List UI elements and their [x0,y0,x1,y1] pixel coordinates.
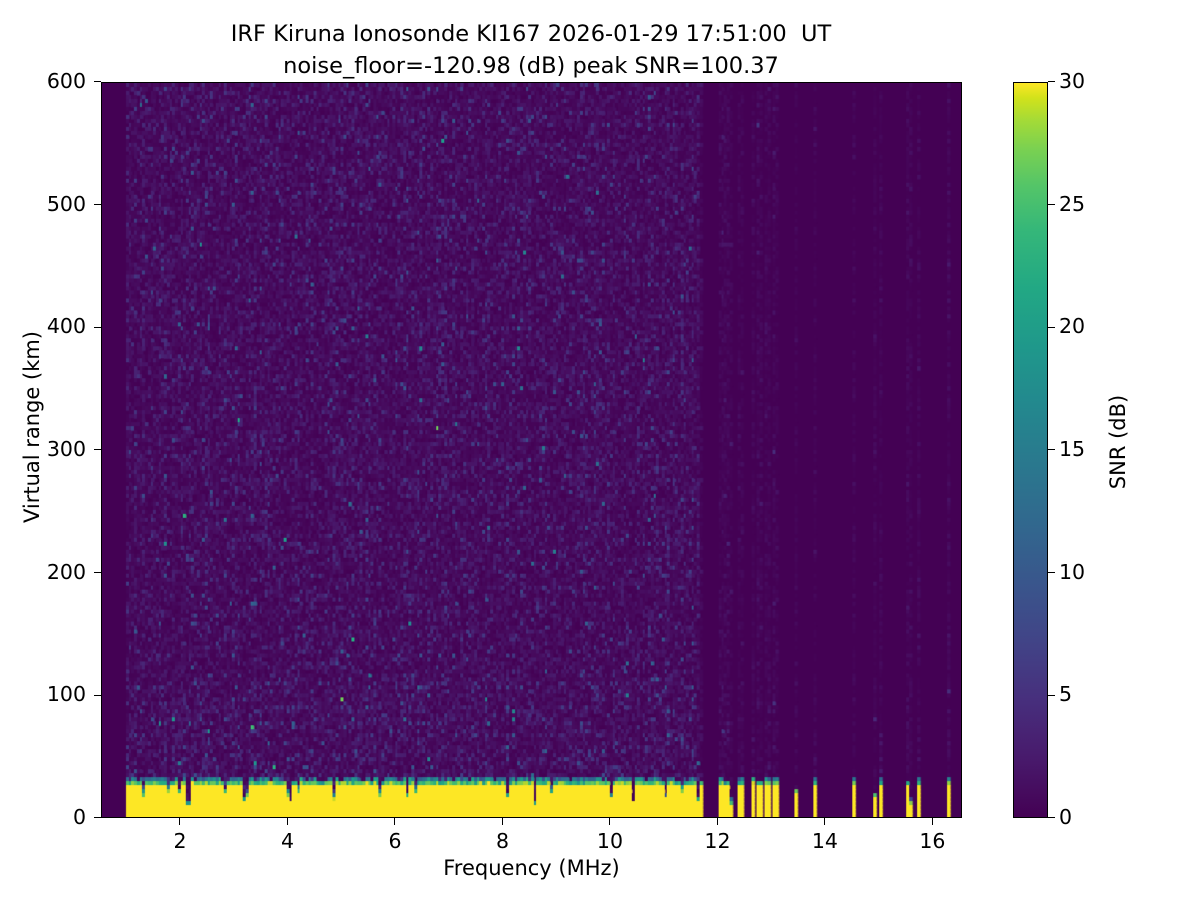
colorbar-tick-label: 15 [1059,439,1085,459]
colorbar-tick-mark [1048,572,1055,573]
y-tick-label: 600 [0,71,86,91]
x-tick-label: 6 [360,829,430,853]
x-tick-mark [502,818,503,825]
y-tick-mark [94,449,101,450]
colorbar-tick-label: 5 [1059,684,1072,704]
x-tick-mark [394,818,395,825]
colorbar-tick-mark [1048,327,1055,328]
y-tick-mark [94,572,101,573]
y-tick-label: 100 [0,684,86,704]
colorbar-tick-mark [1048,81,1055,82]
colorbar-tick-label: 0 [1059,807,1072,827]
y-axis-label: Virtual range (km) [20,247,44,607]
colorbar-tick-label: 20 [1059,316,1085,336]
title-line-1: IRF Kiruna Ionosonde KI167 2026-01-29 17… [0,18,1062,50]
figure-title: IRF Kiruna Ionosonde KI167 2026-01-29 17… [0,18,1062,82]
colorbar-tick-mark [1048,204,1055,205]
x-tick-label: 12 [682,829,752,853]
x-tick-label: 16 [897,829,967,853]
y-tick-label: 0 [0,807,86,827]
x-tick-mark [717,818,718,825]
ionogram-heatmap-canvas [102,83,961,817]
y-tick-label: 500 [0,194,86,214]
y-tick-mark [94,81,101,82]
y-tick-mark [94,695,101,696]
colorbar-tick-mark [1048,817,1055,818]
ionogram-plot-area[interactable] [101,82,962,818]
colorbar-tick-label: 30 [1059,71,1085,91]
ionogram-figure: IRF Kiruna Ionosonde KI167 2026-01-29 17… [0,0,1200,900]
colorbar-gradient[interactable] [1013,82,1048,818]
colorbar-label: SNR (dB) [1106,302,1130,582]
x-tick-label: 4 [252,829,322,853]
x-tick-label: 8 [467,829,537,853]
x-tick-mark [824,818,825,825]
x-tick-mark [179,818,180,825]
x-tick-label: 14 [790,829,860,853]
x-tick-mark [932,818,933,825]
x-tick-label: 2 [145,829,215,853]
y-tick-mark [94,817,101,818]
x-tick-mark [609,818,610,825]
y-tick-mark [94,327,101,328]
colorbar-tick-label: 10 [1059,562,1085,582]
colorbar-tick-mark [1048,449,1055,450]
x-tick-mark [287,818,288,825]
y-tick-mark [94,204,101,205]
x-tick-label: 10 [575,829,645,853]
title-line-2: noise_floor=-120.98 (dB) peak SNR=100.37 [0,50,1062,82]
colorbar-tick-mark [1048,695,1055,696]
x-axis-label: Frequency (MHz) [101,856,962,880]
colorbar-tick-label: 25 [1059,194,1085,214]
